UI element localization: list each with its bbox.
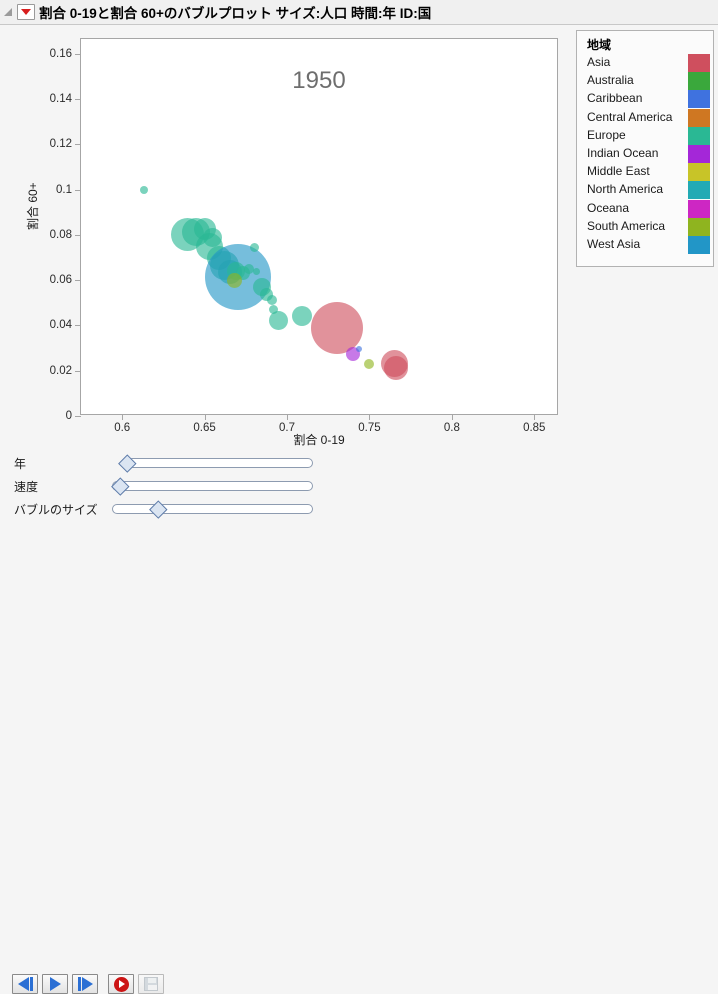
bubble-point[interactable] xyxy=(356,346,362,352)
bubble-point[interactable] xyxy=(250,243,259,252)
x-axis-tick xyxy=(534,414,535,420)
legend-item-label: Australia xyxy=(587,73,634,87)
x-axis-tick-label: 0.7 xyxy=(279,422,295,434)
y-axis-tick-label: 0.14 xyxy=(50,93,72,105)
y-axis-tick xyxy=(75,235,81,236)
legend-item[interactable]: Indian Ocean xyxy=(577,145,713,163)
legend-color-swatch[interactable] xyxy=(688,218,710,236)
legend-item[interactable]: West Asia xyxy=(577,236,713,254)
legend-item[interactable]: North America xyxy=(577,181,713,199)
y-axis-tick xyxy=(75,325,81,326)
legend-item-label: Central America xyxy=(587,110,672,124)
legend-item-label: Oceana xyxy=(587,201,629,215)
x-axis-tick xyxy=(287,414,288,420)
y-axis-tick-label: 0.1 xyxy=(56,184,72,196)
y-axis-tick-label: 0.04 xyxy=(50,319,72,331)
red-triangle-menu-icon[interactable] xyxy=(17,4,35,20)
legend-item[interactable]: Caribbean xyxy=(577,90,713,108)
legend-color-swatch[interactable] xyxy=(688,72,710,90)
y-axis-tick xyxy=(75,371,81,372)
legend-color-swatch[interactable] xyxy=(688,200,710,218)
slider-row: 年 xyxy=(0,452,340,474)
slider-track[interactable] xyxy=(112,481,313,491)
legend-item-label: Caribbean xyxy=(587,91,642,105)
legend-item-label: South America xyxy=(587,219,665,233)
x-axis-tick xyxy=(369,414,370,420)
x-axis-tick-label: 0.6 xyxy=(114,422,130,434)
record-button[interactable] xyxy=(108,974,134,994)
slider-thumb[interactable] xyxy=(113,477,128,494)
slider-row: 速度 xyxy=(0,475,340,497)
legend-color-swatch[interactable] xyxy=(688,127,710,145)
play-icon xyxy=(50,977,61,991)
legend-item[interactable]: South America xyxy=(577,218,713,236)
legend-item[interactable]: Australia xyxy=(577,72,713,90)
legend-item-label: North America xyxy=(587,182,663,196)
legend-item-label: West Asia xyxy=(587,237,640,251)
bubble-point[interactable] xyxy=(140,186,148,194)
record-icon xyxy=(114,977,129,992)
play-button[interactable] xyxy=(42,974,68,994)
legend-title: 地域 xyxy=(587,36,611,53)
y-axis-tick xyxy=(75,99,81,100)
y-axis-label: 割合 60+ xyxy=(24,182,41,230)
legend-item-label: Middle East xyxy=(587,164,650,178)
slider-track[interactable] xyxy=(112,504,313,514)
x-axis-tick xyxy=(122,414,123,420)
y-axis-tick-label: 0.16 xyxy=(50,48,72,60)
legend-panel: 地域 AsiaAustraliaCaribbeanCentral America… xyxy=(576,30,714,267)
y-axis-tick-label: 0.02 xyxy=(50,365,72,377)
legend-item-label: Asia xyxy=(587,55,610,69)
legend-color-swatch[interactable] xyxy=(688,145,710,163)
x-axis-label: 割合 0-19 xyxy=(80,431,558,448)
y-axis-tick-label: 0.12 xyxy=(50,138,72,150)
slider-row: バブルのサイズ xyxy=(0,498,340,520)
legend-item[interactable]: Middle East xyxy=(577,163,713,181)
x-axis-tick xyxy=(205,414,206,420)
x-axis-tick-label: 0.75 xyxy=(358,422,380,434)
x-axis-tick-label: 0.8 xyxy=(444,422,460,434)
slider-label: バブルのサイズ xyxy=(14,501,98,518)
slider-thumb[interactable] xyxy=(151,500,166,517)
step-forward-button[interactable] xyxy=(72,974,98,994)
plot-frame: 1950 00.020.040.060.080.10.120.140.160.6… xyxy=(80,38,558,415)
legend-item[interactable]: Oceana xyxy=(577,200,713,218)
bubble-point[interactable] xyxy=(267,295,277,305)
legend-color-swatch[interactable] xyxy=(688,181,710,199)
y-axis-tick xyxy=(75,280,81,281)
slider-label: 速度 xyxy=(14,478,38,495)
x-axis-tick xyxy=(452,414,453,420)
bubble-point[interactable] xyxy=(364,359,374,369)
bubble-point[interactable] xyxy=(384,356,408,380)
save-button xyxy=(138,974,164,994)
slider-track[interactable] xyxy=(125,458,313,468)
y-axis-tick xyxy=(75,416,81,417)
y-axis-tick-label: 0.08 xyxy=(50,229,72,241)
step-forward-icon xyxy=(78,977,93,991)
disclosure-triangle-icon[interactable] xyxy=(2,0,16,25)
step-back-button[interactable] xyxy=(12,974,38,994)
slider-thumb[interactable] xyxy=(119,454,134,471)
y-axis-tick-label: 0.06 xyxy=(50,274,72,286)
y-axis-tick xyxy=(75,190,81,191)
legend-color-swatch[interactable] xyxy=(688,236,710,254)
legend-color-swatch[interactable] xyxy=(688,163,710,181)
bubble-layer[interactable] xyxy=(81,39,557,414)
y-axis-tick xyxy=(75,54,81,55)
slider-label: 年 xyxy=(14,455,26,472)
animation-controls: 年速度バブルのサイズ xyxy=(0,452,718,546)
x-axis-tick-label: 0.65 xyxy=(193,422,215,434)
legend-color-swatch[interactable] xyxy=(688,90,710,108)
legend-item[interactable]: Asia xyxy=(577,54,713,72)
legend-color-swatch[interactable] xyxy=(688,54,710,72)
y-axis-tick xyxy=(75,144,81,145)
floppy-disk-icon xyxy=(144,977,158,991)
window-title-bar: 割合 0-19と割合 60+のバブルプロット サイズ:人口 時間:年 ID:国 xyxy=(0,0,718,25)
step-backward-icon xyxy=(18,977,33,991)
legend-color-swatch[interactable] xyxy=(688,109,710,127)
legend-item[interactable]: Europe xyxy=(577,127,713,145)
legend-item[interactable]: Central America xyxy=(577,109,713,127)
bubble-point[interactable] xyxy=(311,302,363,354)
legend-item-label: Europe xyxy=(587,128,626,142)
y-axis-tick-label: 0 xyxy=(66,410,72,422)
bubble-point[interactable] xyxy=(269,311,288,330)
bubble-point[interactable] xyxy=(292,306,312,326)
legend-item-label: Indian Ocean xyxy=(587,146,658,160)
x-axis-tick-label: 0.85 xyxy=(523,422,545,434)
page-title: 割合 0-19と割合 60+のバブルプロット サイズ:人口 時間:年 ID:国 xyxy=(39,2,431,22)
